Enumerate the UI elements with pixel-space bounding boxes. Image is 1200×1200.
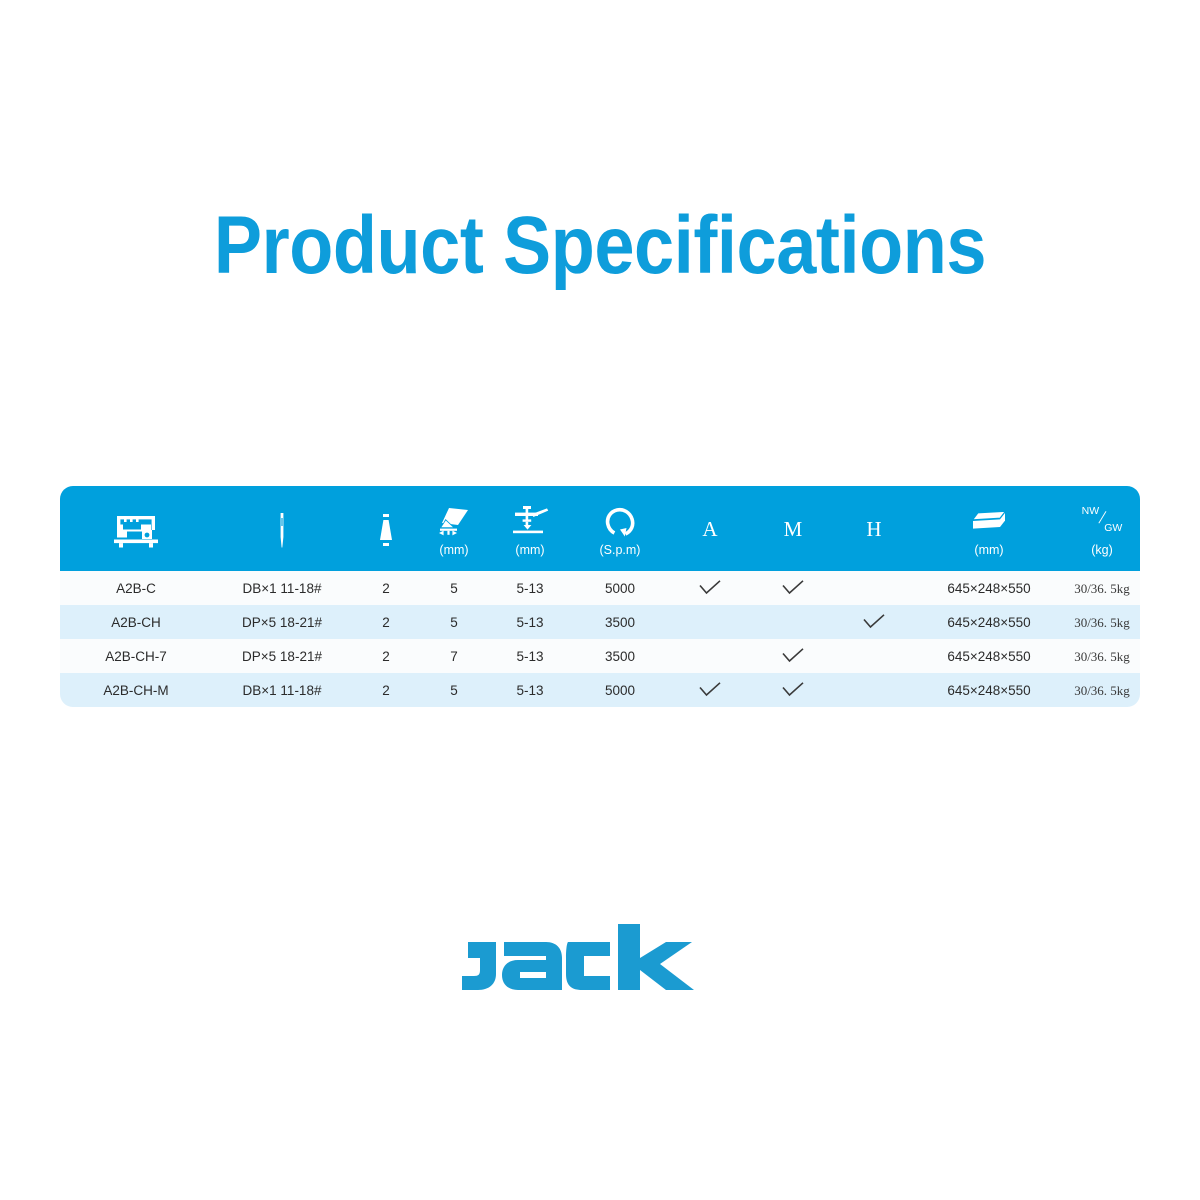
header-unit-weight: (kg): [1091, 543, 1113, 558]
cell-needle-count: 2: [352, 673, 420, 707]
cell-speed: 3500: [572, 605, 668, 639]
cell-h: [834, 639, 914, 673]
presser-foot-lift-icon: [436, 500, 472, 540]
cell-h: [834, 605, 914, 639]
brand-logo: [0, 918, 1200, 994]
cell-foot-lift: 7: [420, 639, 488, 673]
header-cell-foot-lift: (mm): [420, 486, 488, 571]
cell-m: [752, 639, 834, 673]
carton-box-icon: [969, 500, 1009, 540]
table-row: A2B-CH-7 DP×5 18-21# 2 7 5-13 3500 645×2…: [60, 639, 1140, 673]
page-title: Product Specifications: [72, 196, 1128, 296]
header-cell-h: H: [834, 486, 914, 571]
cell-foot-lift: 5: [420, 605, 488, 639]
sewing-machine-icon: [113, 509, 159, 549]
cell-speed: 5000: [572, 571, 668, 605]
header-unit-speed: (S.p.m): [600, 543, 641, 558]
table-row: A2B-C DB×1 11-18# 2 5 5-13 5000 645×248×…: [60, 571, 1140, 605]
header-cell-stitch-length: (mm): [488, 486, 572, 571]
nw-gw-icon: NW / GW: [1082, 500, 1123, 540]
cell-m: [752, 571, 834, 605]
cell-h: [834, 673, 914, 707]
cell-stitch-length: 5-13: [488, 639, 572, 673]
cell-needle-count: 2: [352, 571, 420, 605]
header-unit-foot-lift: (mm): [439, 543, 468, 558]
checkmark-icon: [782, 682, 804, 698]
header-cell-needle: [212, 486, 352, 571]
cell-model: A2B-CH-7: [60, 639, 212, 673]
stitch-length-icon: [509, 500, 551, 540]
cell-h: [834, 571, 914, 605]
presser-foot-icon: [375, 509, 397, 549]
checkmark-icon: [699, 682, 721, 698]
header-cell-weight: NW / GW (kg): [1064, 486, 1140, 571]
header-cell-speed: (S.p.m): [572, 486, 668, 571]
cell-dimensions: 645×248×550: [914, 639, 1064, 673]
cell-a: [668, 673, 752, 707]
gw-label: GW: [1104, 523, 1122, 534]
table-row: A2B-CH DP×5 18-21# 2 5 5-13 3500 645×248…: [60, 605, 1140, 639]
checkmark-icon: [699, 580, 721, 596]
cell-needle-count: 2: [352, 605, 420, 639]
jack-wordmark-icon: [460, 918, 740, 994]
cell-foot-lift: 5: [420, 673, 488, 707]
cell-a: [668, 639, 752, 673]
cell-stitch-length: 5-13: [488, 571, 572, 605]
speed-rotation-icon: [603, 500, 637, 540]
header-cell-dimensions: (mm): [914, 486, 1064, 571]
cell-model: A2B-CH: [60, 605, 212, 639]
cell-model: A2B-C: [60, 571, 212, 605]
nw-label: NW: [1082, 506, 1100, 517]
header-cell-needle-count: [352, 486, 420, 571]
checkmark-icon: [863, 614, 885, 630]
header-letter-h: H: [866, 518, 881, 540]
cell-dimensions: 645×248×550: [914, 673, 1064, 707]
table-row: A2B-CH-M DB×1 11-18# 2 5 5-13 5000 645×2…: [60, 673, 1140, 707]
cell-weight: 30/36. 5kg: [1064, 673, 1140, 707]
cell-m: [752, 673, 834, 707]
product-specifications-page: Product Specifications: [0, 0, 1200, 1200]
header-cell-model: [60, 486, 212, 571]
header-cell-a: A: [668, 486, 752, 571]
needle-icon: [276, 509, 288, 549]
cell-needle: DP×5 18-21#: [212, 605, 352, 639]
cell-speed: 5000: [572, 673, 668, 707]
cell-needle-count: 2: [352, 639, 420, 673]
header-unit-stitch-length: (mm): [515, 543, 544, 558]
cell-needle: DB×1 11-18#: [212, 673, 352, 707]
checkmark-icon: [782, 580, 804, 596]
header-letter-m: M: [784, 518, 803, 540]
cell-dimensions: 645×248×550: [914, 571, 1064, 605]
cell-weight: 30/36. 5kg: [1064, 571, 1140, 605]
cell-m: [752, 605, 834, 639]
cell-needle: DB×1 11-18#: [212, 571, 352, 605]
header-letter-a: A: [702, 518, 717, 540]
cell-foot-lift: 5: [420, 571, 488, 605]
header-unit-dimensions: (mm): [974, 543, 1003, 558]
cell-speed: 3500: [572, 639, 668, 673]
table-header-row: (mm) (mm): [60, 486, 1140, 571]
cell-weight: 30/36. 5kg: [1064, 639, 1140, 673]
cell-stitch-length: 5-13: [488, 673, 572, 707]
specifications-table: (mm) (mm): [60, 486, 1140, 707]
cell-stitch-length: 5-13: [488, 605, 572, 639]
header-cell-m: M: [752, 486, 834, 571]
cell-a: [668, 605, 752, 639]
cell-needle: DP×5 18-21#: [212, 639, 352, 673]
checkmark-icon: [782, 648, 804, 664]
cell-a: [668, 571, 752, 605]
cell-model: A2B-CH-M: [60, 673, 212, 707]
cell-dimensions: 645×248×550: [914, 605, 1064, 639]
cell-weight: 30/36. 5kg: [1064, 605, 1140, 639]
